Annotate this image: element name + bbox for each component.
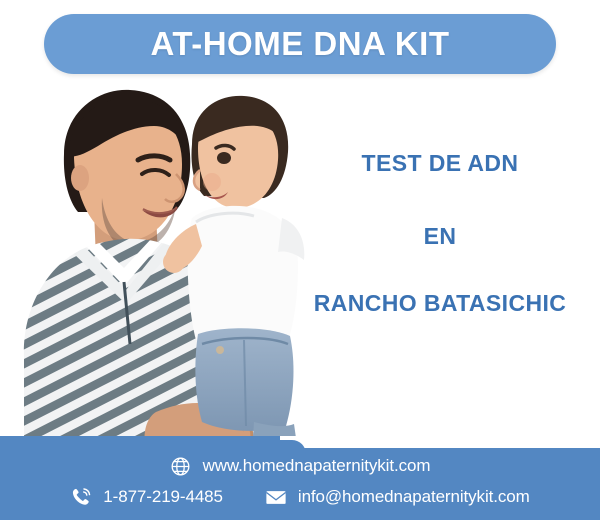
headline-line-1: TEST DE ADN (290, 150, 590, 177)
headline-line-2: EN (290, 223, 590, 250)
family-photo (6, 82, 326, 452)
footer-spacer (233, 497, 255, 498)
poster-canvas: AT-HOME DNA KIT (0, 0, 600, 520)
footer-notch (280, 436, 600, 448)
website-text: www.homednapaternitykit.com (203, 456, 431, 476)
phone-text: 1-877-219-4485 (103, 487, 223, 507)
email-item[interactable]: info@homednapaternitykit.com (265, 486, 530, 508)
page-title: AT-HOME DNA KIT (44, 14, 556, 74)
website-item[interactable]: www.homednapaternitykit.com (170, 455, 431, 477)
email-text: info@homednapaternitykit.com (298, 487, 530, 507)
footer-website-row: www.homednapaternitykit.com (0, 455, 600, 477)
phone-item[interactable]: 1-877-219-4485 (70, 486, 223, 508)
footer-contact-row: 1-877-219-4485 info@homednapaternitykit.… (0, 486, 600, 508)
globe-icon (170, 455, 192, 477)
phone-icon (70, 486, 92, 508)
envelope-icon (265, 486, 287, 508)
headline-line-3: RANCHO BATASICHIC (290, 290, 590, 317)
headline-block: TEST DE ADN EN RANCHO BATASICHIC (290, 150, 590, 317)
family-photo-illustration (6, 82, 326, 452)
header-banner: AT-HOME DNA KIT (44, 14, 556, 74)
